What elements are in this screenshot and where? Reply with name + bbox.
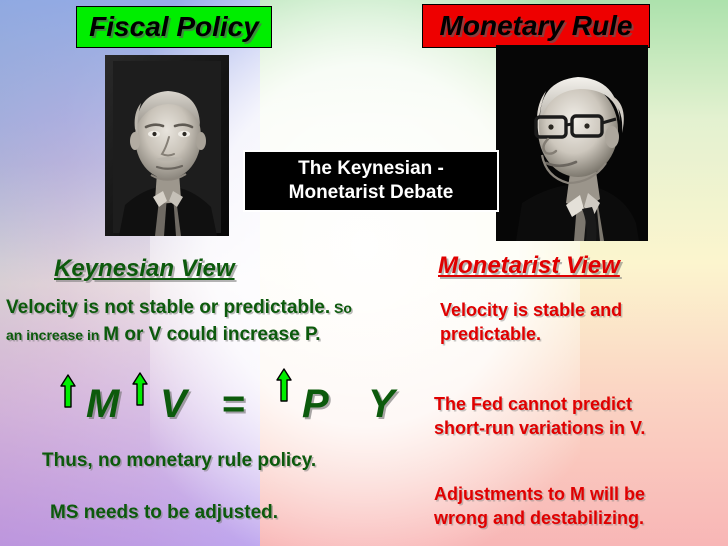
monetarist-p3-line1: Adjustments to M will be [434, 482, 645, 506]
monetarist-paragraph-2: The Fed cannot predict short-run variati… [434, 392, 645, 440]
keynesian-line-1-main: Velocity is not stable or predictable. [6, 297, 330, 318]
equation-symbol-y: Y [368, 384, 395, 424]
monetarist-p3-line2: wrong and destabilizing. [434, 506, 645, 530]
monetarist-p1-line2: predictable. [440, 322, 622, 346]
keynesian-line-1-tail: So [330, 300, 352, 316]
keynesian-conclusion-1: Thus, no monetary rule policy. [42, 450, 316, 472]
monetarist-view-heading: Monetarist View [438, 252, 620, 280]
monetarist-p2-line1: The Fed cannot predict [434, 392, 645, 416]
monetarist-paragraph-1: Velocity is stable and predictable. [440, 298, 622, 346]
debate-caption-line2: Monetarist Debate [289, 181, 454, 205]
debate-caption-line1: The Keynesian - [298, 157, 444, 181]
friedman-portrait [496, 45, 648, 241]
keynesian-line-2-c: M or V could [103, 324, 222, 345]
equation-symbol-p: P [302, 384, 329, 424]
equation-symbol-v: V [160, 384, 187, 424]
monetarist-paragraph-3: Adjustments to M will be wrong and desta… [434, 482, 645, 530]
fiscal-policy-banner: Fiscal Policy [76, 6, 272, 48]
up-arrow-icon-v [132, 372, 148, 406]
keynesian-line-2-b: in [83, 327, 103, 343]
keynesian-line-1: Velocity is not stable or predictable. S… [6, 297, 352, 319]
keynesian-line-2-d: increase P. [223, 324, 321, 345]
slide-canvas: Fiscal Policy Monetary Rule [0, 0, 728, 546]
equation-symbol-equals: = [222, 384, 245, 424]
keynesian-line-2: an increase in M or V could increase P. [6, 324, 320, 346]
monetarist-p2-line2: short-run variations in V. [434, 416, 645, 440]
monetarist-p1-line1: Velocity is stable and [440, 298, 622, 322]
debate-caption-box: The Keynesian - Monetarist Debate [243, 150, 499, 212]
equation-of-exchange: M V = P Y [54, 368, 414, 424]
fiscal-policy-label: Fiscal Policy [89, 11, 259, 43]
up-arrow-icon-p [276, 368, 292, 402]
up-arrow-icon-m [60, 374, 76, 408]
monetary-rule-banner: Monetary Rule [422, 4, 650, 48]
monetary-rule-label: Monetary Rule [440, 10, 633, 42]
keynesian-line-2-a: an increase [6, 327, 83, 343]
keynesian-view-heading: Keynesian View [54, 255, 235, 283]
equation-symbol-m: M [86, 384, 119, 424]
keynes-portrait [105, 55, 229, 236]
keynesian-conclusion-2: MS needs to be adjusted. [50, 502, 278, 524]
